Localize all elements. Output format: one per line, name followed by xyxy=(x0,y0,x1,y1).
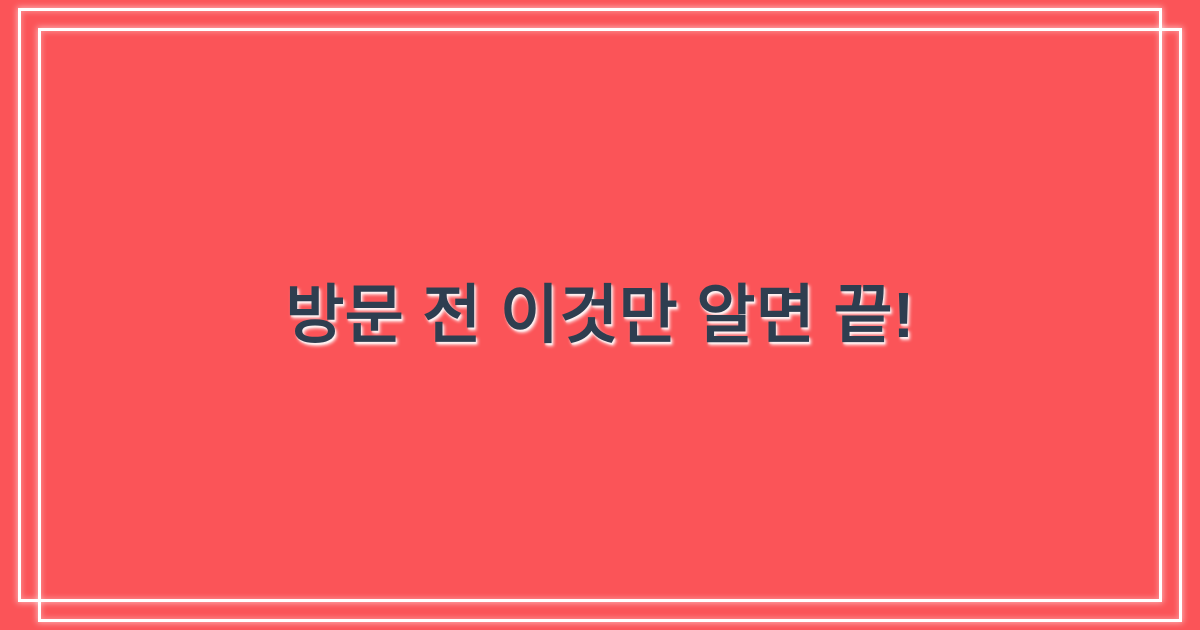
banner-headline: 방문 전 이것만 알면 끝! xyxy=(285,278,914,353)
promo-banner: 방문 전 이것만 알면 끝! xyxy=(0,0,1200,630)
headline-container: 방문 전 이것만 알면 끝! xyxy=(0,0,1200,630)
